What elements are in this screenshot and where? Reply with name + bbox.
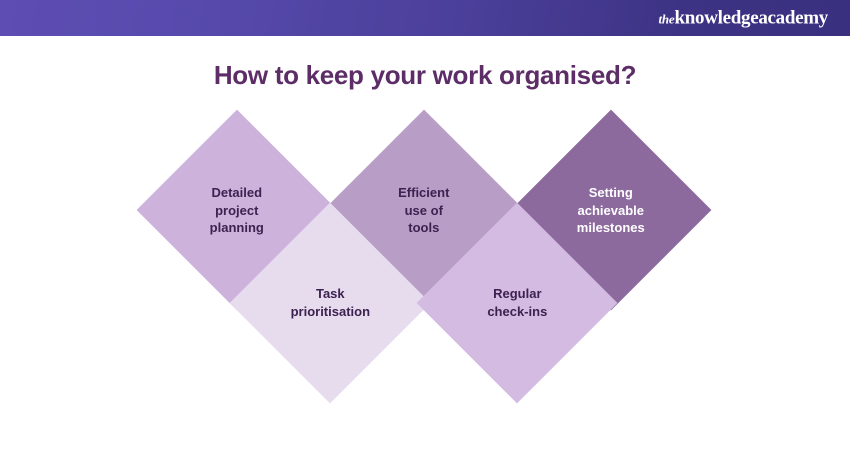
diamond-step-label: Efficient use of tools [359, 184, 489, 237]
diamond-step-label: Detailed project planning [172, 184, 302, 237]
diamond-step-label: Regular check-ins [452, 285, 582, 320]
header-bar: theknowledgeacademy [0, 0, 850, 36]
brand-logo-name: knowledgeacademy [674, 8, 828, 29]
page-title: How to keep your work organised? [0, 60, 850, 91]
brand-logo: theknowledgeacademy [658, 9, 828, 28]
slide-canvas: theknowledgeacademy How to keep your wor… [0, 0, 850, 450]
brand-logo-the: the [658, 12, 674, 27]
diamond-step-label: Task prioritisation [265, 285, 395, 320]
diamond-step-label: Setting achievable milestones [546, 184, 676, 237]
diamond-chain-diagram: Detailed project planning Task prioritis… [0, 120, 850, 450]
